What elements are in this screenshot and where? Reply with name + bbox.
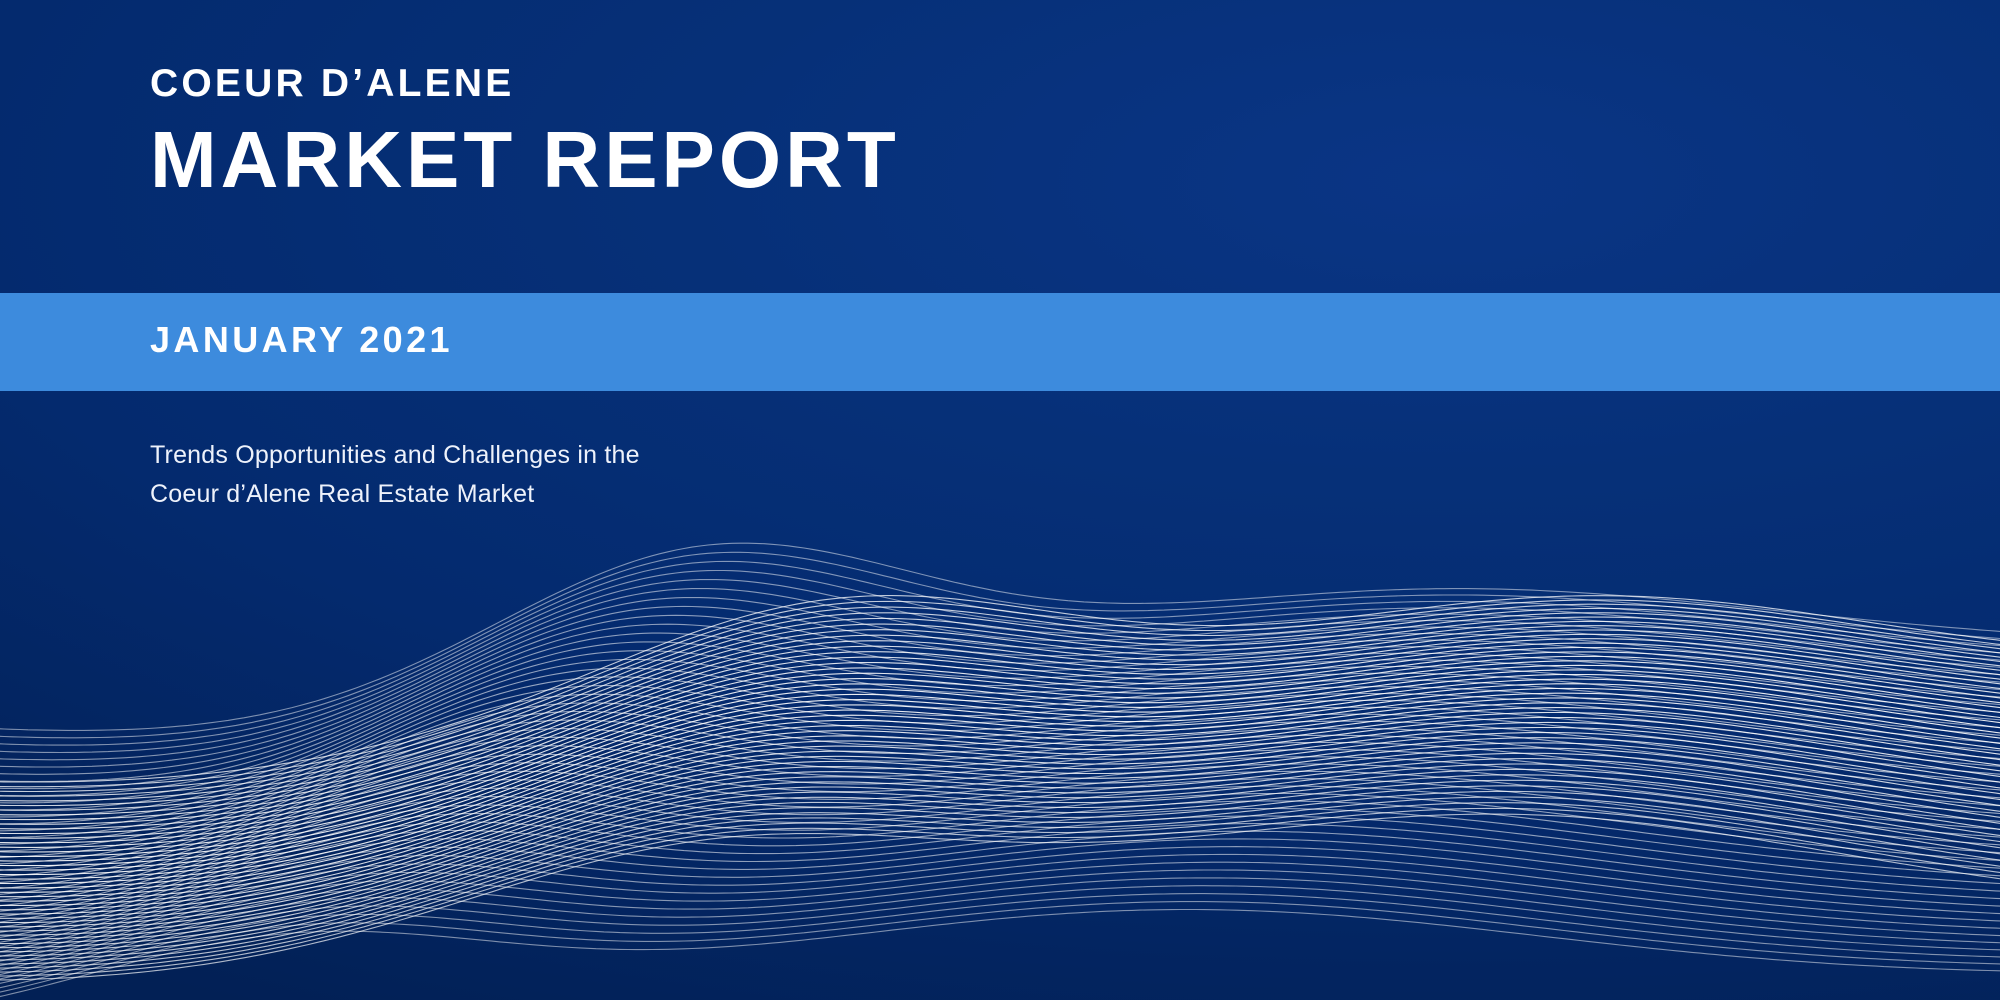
subtitle-line-2: Coeur d’Alene Real Estate Market — [150, 475, 1050, 514]
wave-line — [0, 613, 2000, 801]
wave-line — [0, 839, 2000, 960]
wave-line — [0, 615, 2000, 788]
wave-line — [0, 862, 2000, 974]
wave-line — [0, 910, 2000, 1000]
accent-band: JANUARY 2021 — [0, 293, 2000, 391]
report-cover: COEUR D’ALENE MARKET REPORT JANUARY 2021… — [0, 0, 2000, 1000]
wave-line — [0, 633, 2000, 803]
header-block: COEUR D’ALENE MARKET REPORT — [150, 64, 1450, 200]
issue-date-label: JANUARY 2021 — [150, 320, 453, 360]
wave-line — [0, 902, 2000, 997]
subtitle-line-1: Trends Opportunities and Challenges in t… — [150, 436, 1050, 475]
page-title: MARKET REPORT — [150, 120, 1450, 200]
eyebrow-location-label: COEUR D’ALENE — [150, 64, 1450, 103]
wave-line — [0, 886, 2000, 988]
subtitle-block: Trends Opportunities and Challenges in t… — [150, 436, 1050, 514]
wave-line — [0, 771, 2000, 913]
